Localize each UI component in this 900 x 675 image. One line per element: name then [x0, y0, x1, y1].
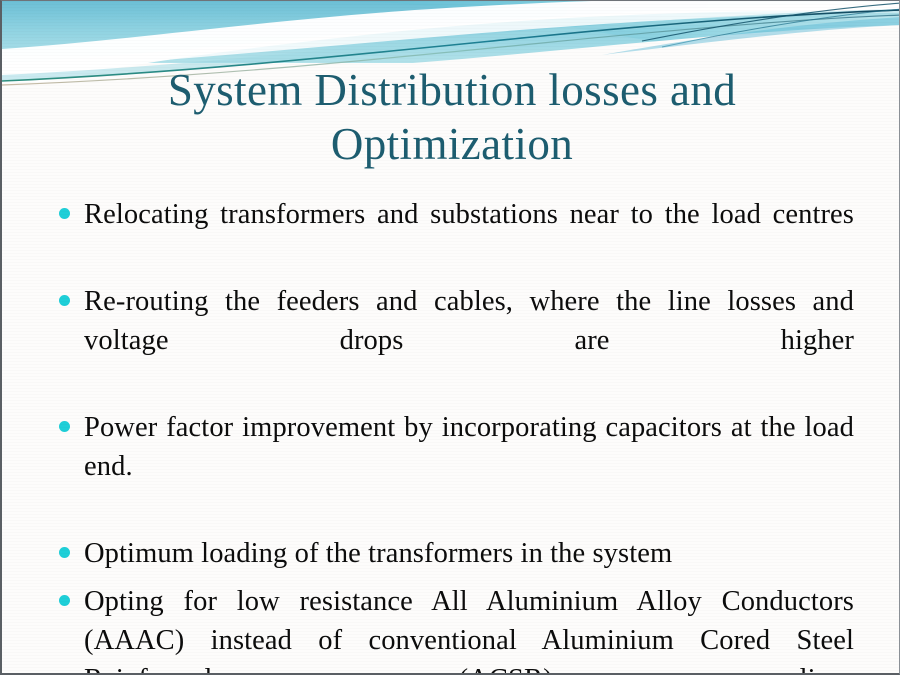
list-item: Power factor improvement by incorporatin…: [54, 408, 854, 525]
bullet-dot-icon: [59, 208, 70, 219]
slide-title-line-1: System Distribution losses and: [62, 63, 842, 117]
list-item: Relocating transformers and substations …: [54, 195, 854, 273]
bullet-dot-icon: [59, 547, 70, 558]
bullet-dot-icon: [59, 421, 70, 432]
list-item-text: Optimum loading of the transformers in t…: [84, 534, 854, 573]
list-item-text: Re-routing the feeders and cables, where…: [84, 282, 854, 399]
presentation-slide: System Distribution losses and Optimizat…: [0, 0, 900, 675]
list-item: Opting for low resistance All Aluminium …: [54, 582, 854, 675]
list-item: Optimum loading of the transformers in t…: [54, 534, 854, 573]
bullet-dot-icon: [59, 595, 70, 606]
list-item: Re-routing the feeders and cables, where…: [54, 282, 854, 399]
bullet-dot-icon: [59, 295, 70, 306]
list-item-text: Opting for low resistance All Aluminium …: [84, 582, 854, 675]
slide-title: System Distribution losses and Optimizat…: [62, 63, 842, 171]
slide-title-line-2: Optimization: [62, 117, 842, 171]
list-item-text: Power factor improvement by incorporatin…: [84, 408, 854, 525]
slide-body-bullet-list: Relocating transformers and substations …: [54, 195, 854, 675]
list-item-text: Relocating transformers and substations …: [84, 195, 854, 273]
